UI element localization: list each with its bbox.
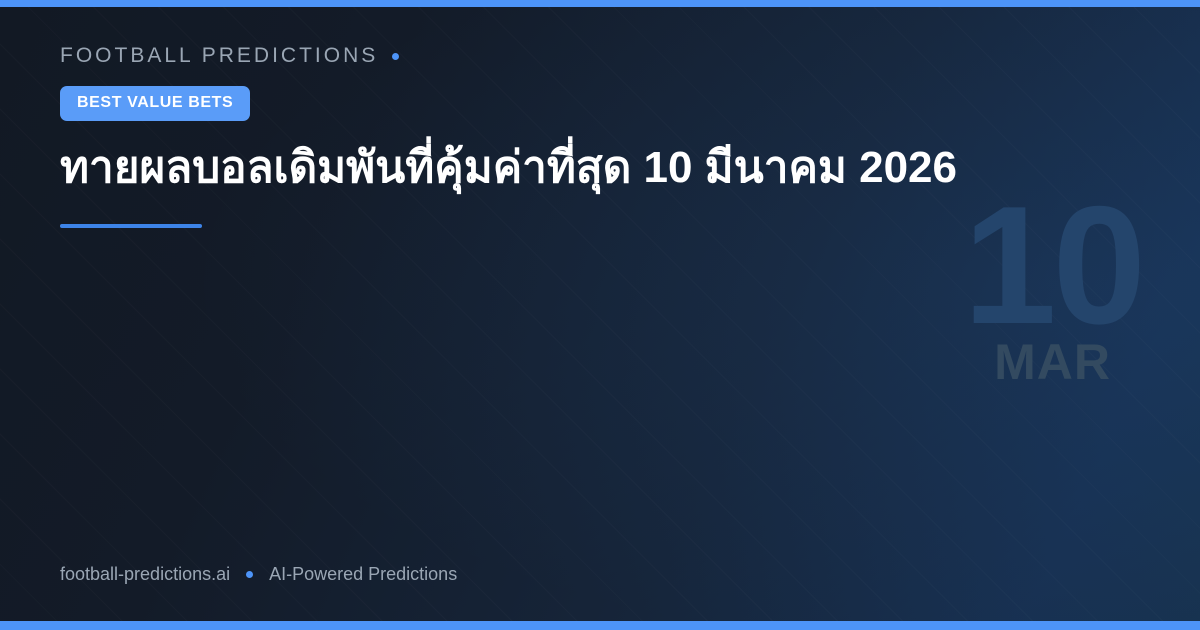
title-underline <box>60 224 202 228</box>
footer-site-name: football-predictions.ai <box>60 564 230 585</box>
eyebrow-label: FOOTBALL PREDICTIONS <box>60 44 378 68</box>
card-content: FOOTBALL PREDICTIONS BEST VALUE BETS ทาย… <box>60 0 1020 228</box>
eyebrow-row: FOOTBALL PREDICTIONS <box>60 44 1020 68</box>
footer: football-predictions.ai AI-Powered Predi… <box>60 564 457 585</box>
footer-tagline: AI-Powered Predictions <box>269 564 457 585</box>
bullet-dot-icon <box>392 53 399 60</box>
status-badge: BEST VALUE BETS <box>60 86 250 121</box>
bottom-accent-bar <box>0 621 1200 630</box>
page-title: ทายผลบอลเดิมพันที่คุ้มค่าที่สุด 10 มีนาค… <box>60 142 1020 195</box>
top-accent-bar <box>0 0 1200 7</box>
footer-bullet-dot-icon <box>246 571 253 578</box>
social-share-card: 10 MAR FOOTBALL PREDICTIONS BEST VALUE B… <box>0 0 1200 630</box>
